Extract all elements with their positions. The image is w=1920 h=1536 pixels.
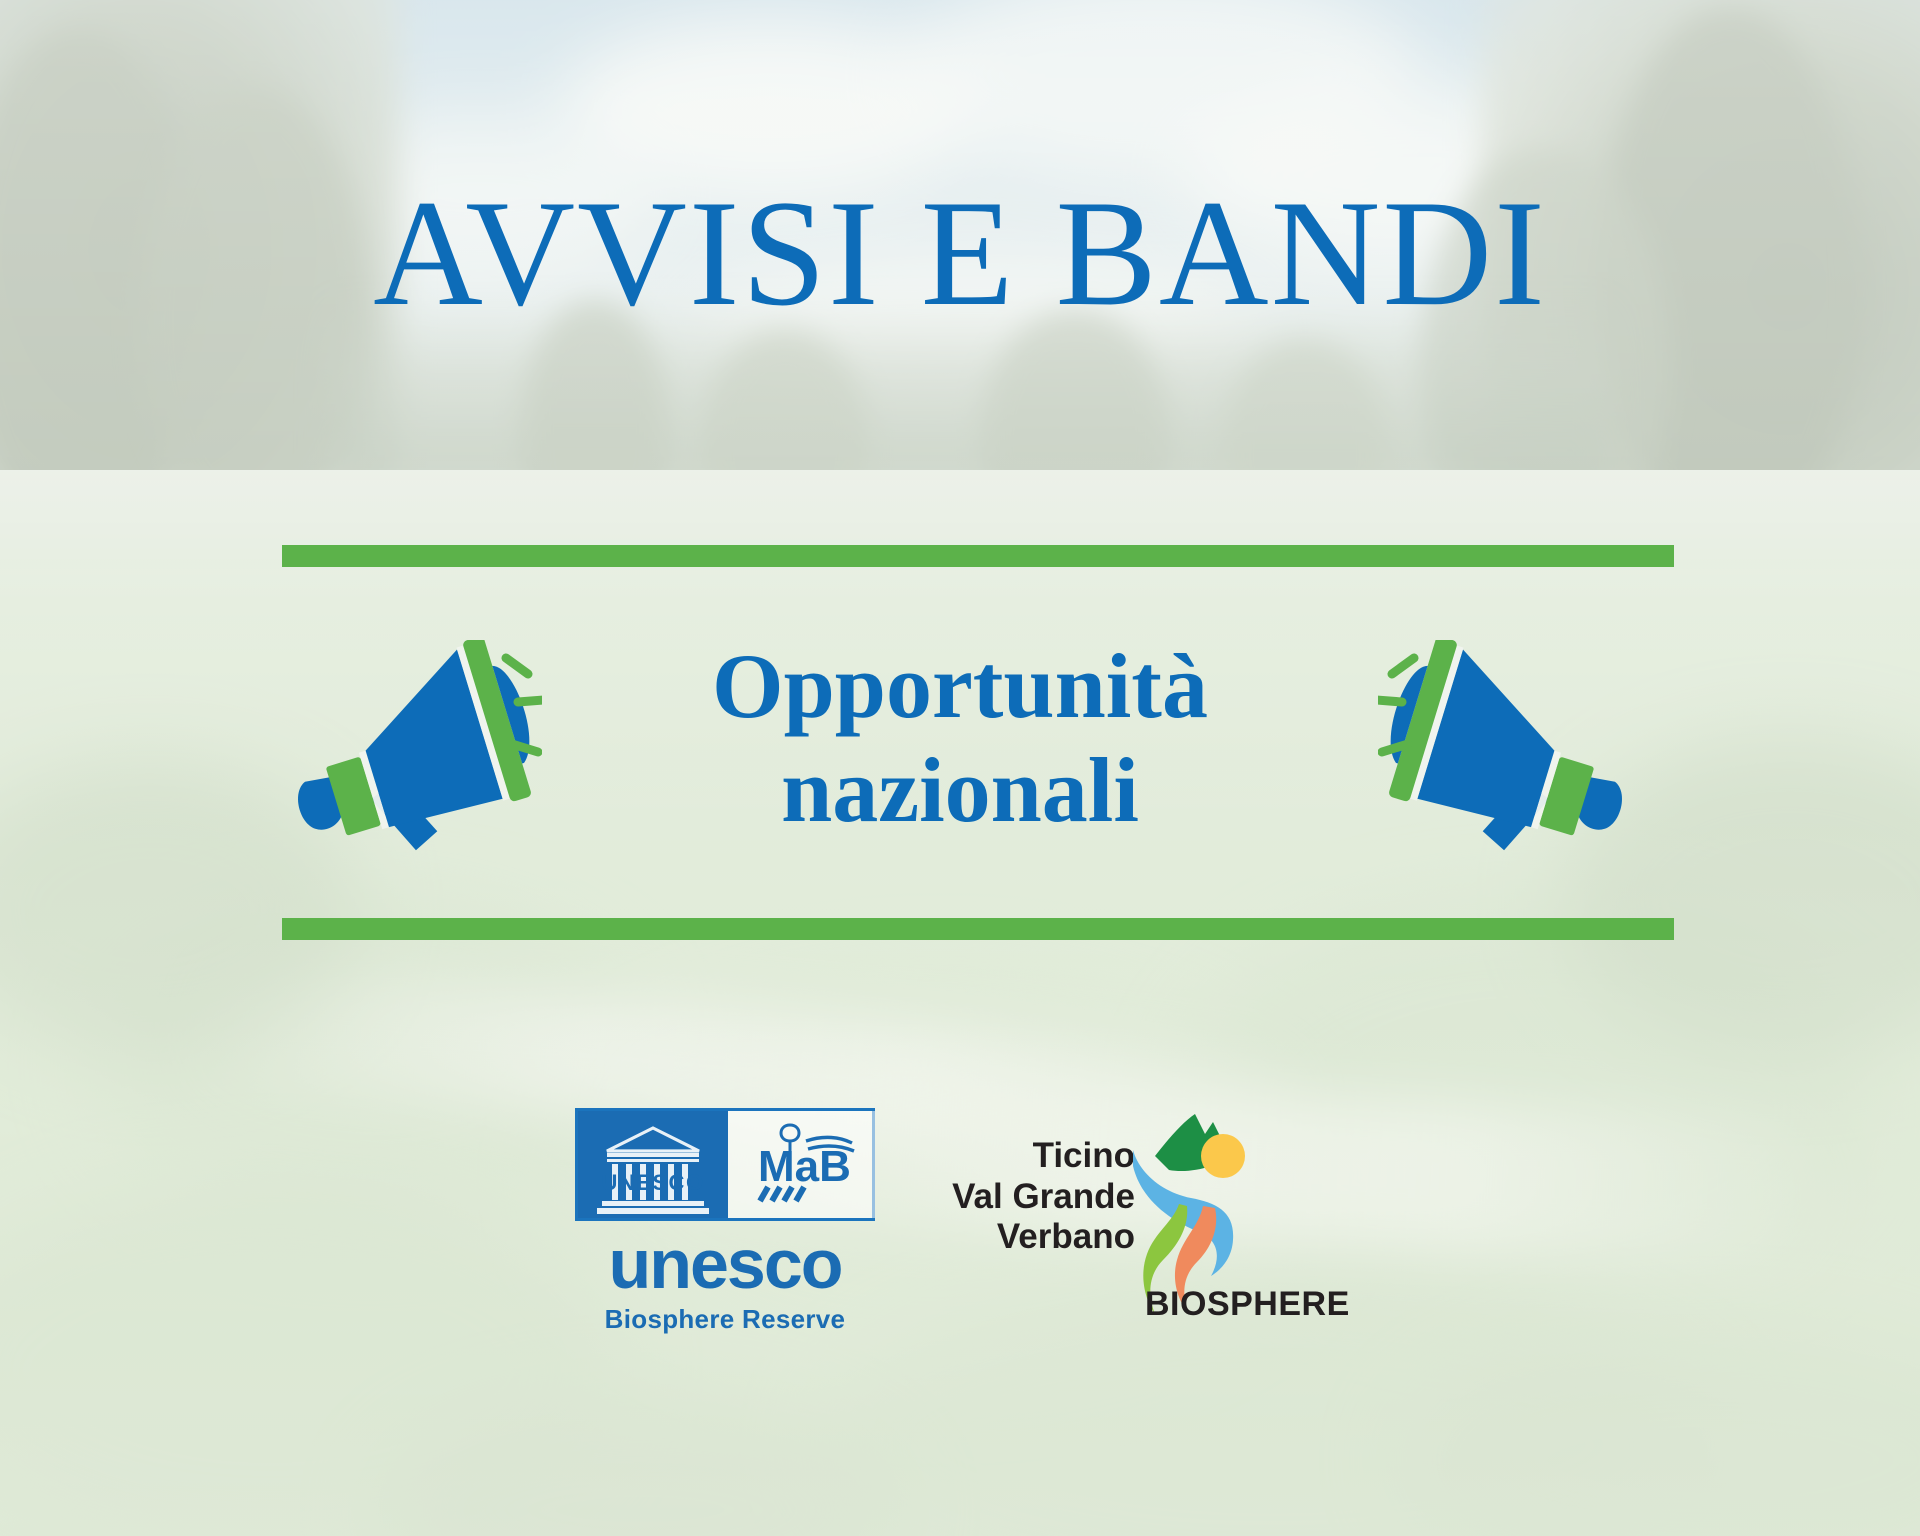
tvgv-wordmark: Ticino Val Grande Verbano	[935, 1136, 1135, 1258]
unesco-temple-panel: UNESCO	[578, 1111, 728, 1218]
megaphone-icon-right	[1378, 640, 1658, 860]
megaphone-left-svg	[262, 640, 542, 860]
svg-text:UNESCO: UNESCO	[601, 1170, 704, 1195]
tvgv-biosphere-label: BIOSPHERE	[1145, 1285, 1350, 1324]
tvgv-line-2: Val Grande	[935, 1177, 1135, 1218]
logo-row: UNESCO MaB	[0, 1100, 1920, 1420]
megaphone-right-svg	[1378, 640, 1658, 860]
subtitle-line-1: Opportunità	[530, 635, 1390, 739]
unesco-tagline: Biosphere Reserve	[575, 1304, 875, 1335]
tvgv-line-3: Verbano	[935, 1217, 1135, 1258]
divider-bottom	[282, 918, 1674, 940]
mab-panel: MaB	[728, 1111, 875, 1218]
svg-text:MaB: MaB	[758, 1142, 851, 1191]
unesco-logo: UNESCO MaB	[575, 1108, 875, 1335]
tvgv-line-1: Ticino	[935, 1136, 1135, 1177]
poster-canvas: AVVISI E BANDI Opportunità nazionali	[0, 0, 1920, 1536]
emblem-sun	[1201, 1134, 1245, 1178]
subtitle-line-2: nazionali	[530, 739, 1390, 843]
unesco-temple-icon: UNESCO	[578, 1111, 728, 1224]
divider-top	[282, 545, 1674, 567]
page-title: AVVISI E BANDI	[0, 176, 1920, 331]
mab-icon: MaB	[728, 1111, 875, 1224]
subtitle: Opportunità nazionali	[530, 635, 1390, 843]
megaphone-icon-left	[262, 640, 542, 860]
tvgv-logo: Ticino Val Grande Verbano B	[935, 1114, 1355, 1364]
unesco-wordmark: unesco	[575, 1231, 875, 1298]
unesco-emblem-box: UNESCO MaB	[575, 1108, 875, 1221]
